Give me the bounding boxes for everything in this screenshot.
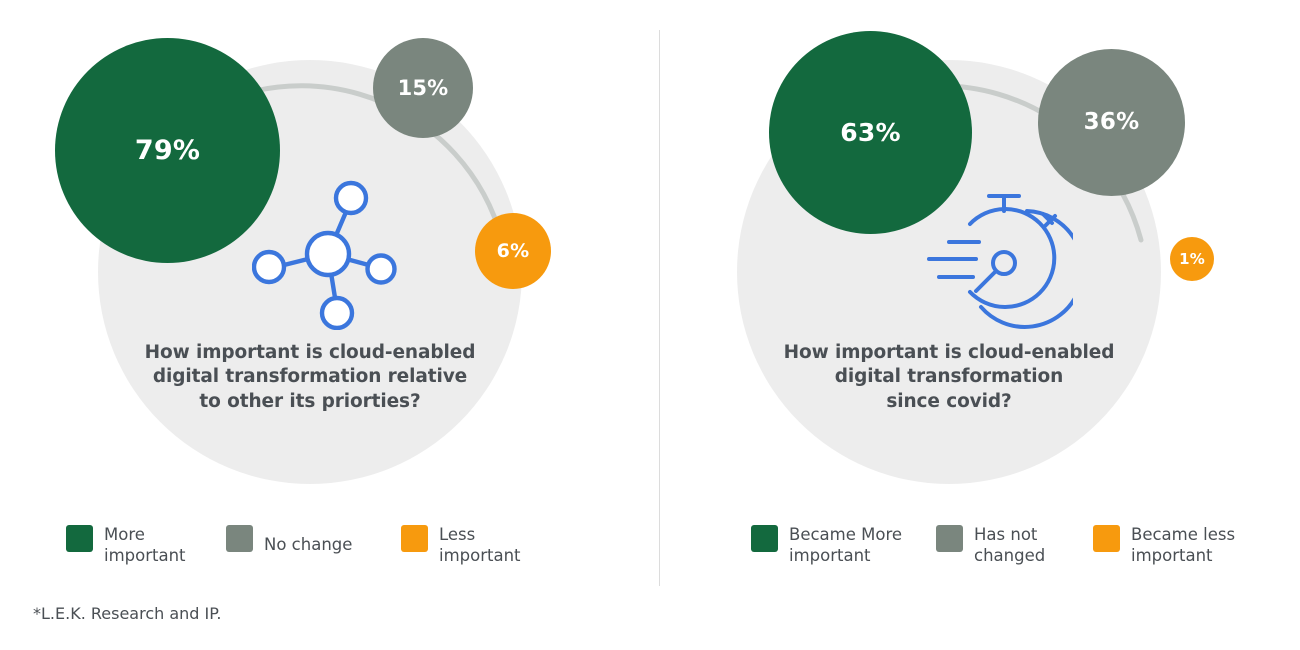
source-footnote: *L.E.K. Research and IP.: [33, 604, 221, 623]
legend-label: Less important: [439, 524, 521, 566]
legend-swatch-gray: [226, 525, 253, 552]
legend-item-has-not-changed[interactable]: Has not changed: [936, 524, 1093, 566]
bubble-value: 15%: [398, 78, 449, 99]
infographic-canvas: 79% 15% 6% How important is cloud-enable…: [0, 0, 1300, 650]
bubble-no-change[interactable]: 15%: [373, 38, 473, 138]
panel-right: 63% 36% 1% How important is cloud-enable…: [659, 0, 1300, 650]
bubble-less-important[interactable]: 6%: [475, 213, 551, 289]
network-nodes-icon: [252, 178, 400, 330]
bubble-value: 36%: [1084, 111, 1140, 134]
bubble-value: 63%: [840, 120, 900, 145]
bubble-value: 6%: [497, 242, 530, 261]
legend-right: Became More important Has not changed Be…: [751, 524, 1281, 566]
bubble-value: 1%: [1179, 252, 1205, 267]
bubble-became-more-important[interactable]: 63%: [769, 31, 972, 234]
legend-item-became-less-important[interactable]: Became less important: [1093, 524, 1273, 566]
legend-swatch-gray: [936, 525, 963, 552]
bubble-has-not-changed[interactable]: 36%: [1038, 49, 1185, 196]
legend-swatch-green: [66, 525, 93, 552]
bubble-value: 79%: [135, 137, 200, 164]
legend-label: Became More important: [789, 524, 902, 566]
question-caption-right: How important is cloud-enabled digital t…: [749, 341, 1149, 414]
legend-item-more-important[interactable]: More important: [66, 524, 226, 566]
legend-item-became-more-important[interactable]: Became More important: [751, 524, 936, 566]
legend-swatch-orange: [1093, 525, 1120, 552]
legend-label: More important: [104, 524, 186, 566]
legend-item-less-important[interactable]: Less important: [401, 524, 561, 566]
legend-swatch-green: [751, 525, 778, 552]
question-caption-left: How important is cloud-enabled digital t…: [110, 341, 510, 414]
legend-label: Became less important: [1131, 524, 1235, 566]
legend-label: No change: [264, 534, 352, 555]
legend-swatch-orange: [401, 525, 428, 552]
legend-left: More important No change Less important: [66, 524, 586, 566]
bubble-became-less-important[interactable]: 1%: [1170, 237, 1214, 281]
panel-left: 79% 15% 6% How important is cloud-enable…: [0, 0, 659, 650]
stopwatch-speed-icon: [921, 185, 1073, 330]
legend-label: Has not changed: [974, 524, 1045, 566]
bubble-more-important[interactable]: 79%: [55, 38, 280, 263]
legend-item-no-change[interactable]: No change: [226, 524, 401, 555]
